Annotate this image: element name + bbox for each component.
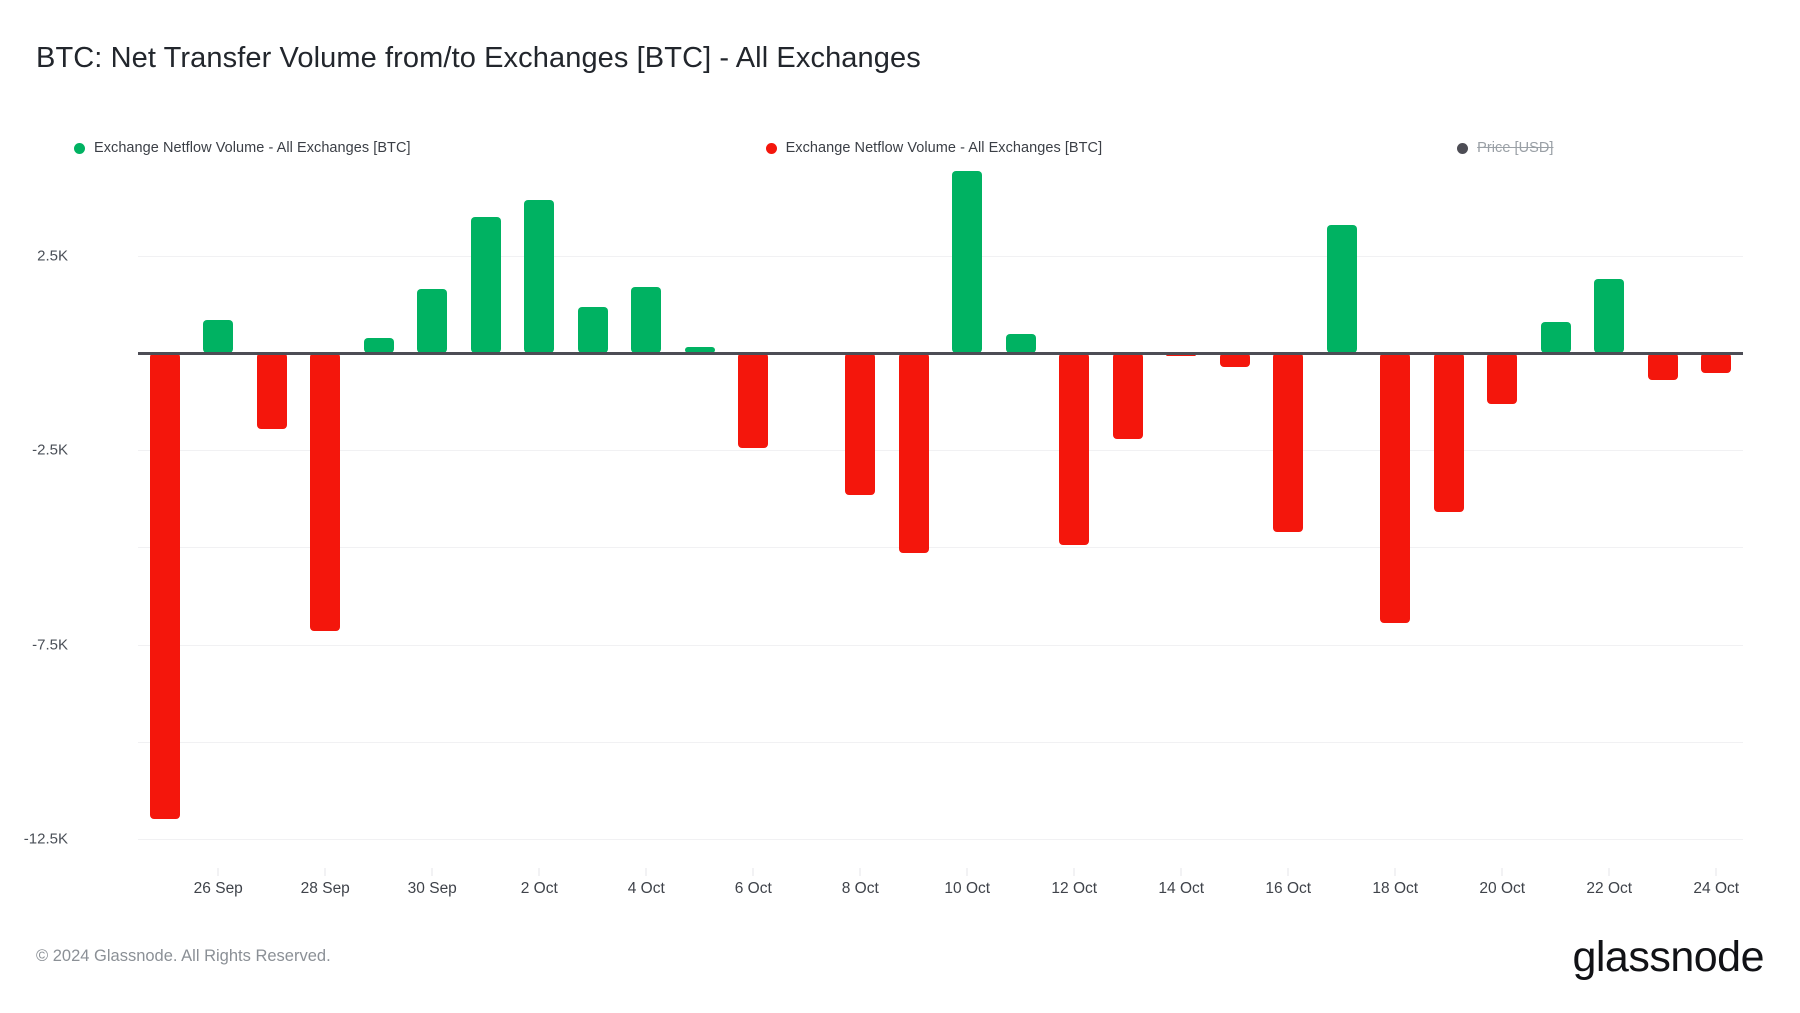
bar[interactable]	[364, 338, 394, 353]
bar[interactable]	[1220, 353, 1250, 367]
x-axis-tick-label: 4 Oct	[628, 880, 665, 898]
bar[interactable]	[631, 287, 661, 353]
bar[interactable]	[1327, 225, 1357, 353]
bar[interactable]	[578, 307, 608, 354]
bar[interactable]	[1594, 279, 1624, 353]
bar[interactable]	[952, 171, 982, 354]
bar[interactable]	[738, 353, 768, 448]
bar[interactable]	[257, 353, 287, 429]
legend-dot-icon	[766, 143, 777, 154]
x-axis-tick-mark	[432, 868, 433, 876]
legend-item-2[interactable]: Price [USD]	[1457, 140, 1553, 156]
y-axis-tick-label: -7.5K	[0, 636, 68, 653]
legend-item-label: Price [USD]	[1477, 140, 1553, 156]
x-axis: 26 Sep28 Sep30 Sep2 Oct4 Oct6 Oct8 Oct10…	[138, 880, 1743, 906]
bar[interactable]	[1006, 334, 1036, 353]
x-axis-tick-label: 18 Oct	[1372, 880, 1418, 898]
bar[interactable]	[1273, 353, 1303, 532]
bar-series	[138, 190, 1743, 866]
legend-item-label: Exchange Netflow Volume - All Exchanges …	[94, 140, 411, 156]
x-axis-tick-mark	[1716, 868, 1717, 876]
x-axis-tick-label: 22 Oct	[1586, 880, 1632, 898]
bar[interactable]	[1059, 353, 1089, 545]
bar[interactable]	[1701, 353, 1731, 372]
glassnode-logo: glassnode	[1572, 936, 1764, 979]
bar[interactable]	[845, 353, 875, 495]
bar[interactable]	[1380, 353, 1410, 623]
x-axis-tick-label: 14 Oct	[1158, 880, 1204, 898]
plot-area: 2.5K-2.5K-7.5K-12.5K	[138, 190, 1743, 866]
x-axis-tick-mark	[325, 868, 326, 876]
x-axis-tick-label: 16 Oct	[1265, 880, 1311, 898]
x-axis-tick-mark	[1395, 868, 1396, 876]
bar[interactable]	[417, 289, 447, 353]
page-title: BTC: Net Transfer Volume from/to Exchang…	[36, 42, 921, 75]
bar[interactable]	[1541, 322, 1571, 353]
bar[interactable]	[1487, 353, 1517, 404]
x-axis-tick-mark	[539, 868, 540, 876]
x-axis-tick-label: 12 Oct	[1051, 880, 1097, 898]
x-axis-tick-label: 10 Oct	[944, 880, 990, 898]
zero-baseline	[138, 352, 1743, 355]
x-axis-tick-mark	[753, 868, 754, 876]
legend-dot-icon	[74, 143, 85, 154]
chart-legend: Exchange Netflow Volume - All Exchanges …	[74, 138, 1553, 158]
x-axis-tick-mark	[1288, 868, 1289, 876]
x-axis-tick-mark	[1074, 868, 1075, 876]
x-axis-tick-mark	[1609, 868, 1610, 876]
x-axis-tick-label: 2 Oct	[521, 880, 558, 898]
bar[interactable]	[310, 353, 340, 631]
bar[interactable]	[203, 320, 233, 353]
bar[interactable]	[150, 353, 180, 819]
bar[interactable]	[1434, 353, 1464, 512]
x-axis-tick-label: 20 Oct	[1479, 880, 1525, 898]
x-axis-tick-mark	[1502, 868, 1503, 876]
footer-copyright: © 2024 Glassnode. All Rights Reserved.	[36, 947, 331, 966]
x-axis-tick-mark	[1181, 868, 1182, 876]
x-axis-tick-mark	[967, 868, 968, 876]
legend-item-label: Exchange Netflow Volume - All Exchanges …	[786, 140, 1103, 156]
x-axis-tick-mark	[646, 868, 647, 876]
bar[interactable]	[471, 217, 501, 353]
bar[interactable]	[1113, 353, 1143, 438]
x-axis-tick-label: 6 Oct	[735, 880, 772, 898]
legend-dot-icon	[1457, 143, 1468, 154]
x-axis-tick-label: 8 Oct	[842, 880, 879, 898]
bar[interactable]	[899, 353, 929, 553]
bar[interactable]	[1648, 353, 1678, 380]
x-axis-tick-mark	[860, 868, 861, 876]
x-axis-tick-label: 26 Sep	[194, 880, 243, 898]
y-axis-tick-label: -2.5K	[0, 442, 68, 459]
y-axis-tick-label: 2.5K	[0, 248, 68, 265]
legend-item-1[interactable]: Exchange Netflow Volume - All Exchanges …	[766, 140, 1103, 156]
x-axis-tick-label: 28 Sep	[301, 880, 350, 898]
y-axis-tick-label: -12.5K	[0, 830, 68, 847]
x-axis-tick-mark	[218, 868, 219, 876]
legend-item-0[interactable]: Exchange Netflow Volume - All Exchanges …	[74, 140, 411, 156]
chart-page: BTC: Net Transfer Volume from/to Exchang…	[0, 0, 1800, 1013]
x-axis-tick-label: 30 Sep	[408, 880, 457, 898]
x-axis-tick-label: 24 Oct	[1693, 880, 1739, 898]
bar[interactable]	[524, 200, 554, 353]
